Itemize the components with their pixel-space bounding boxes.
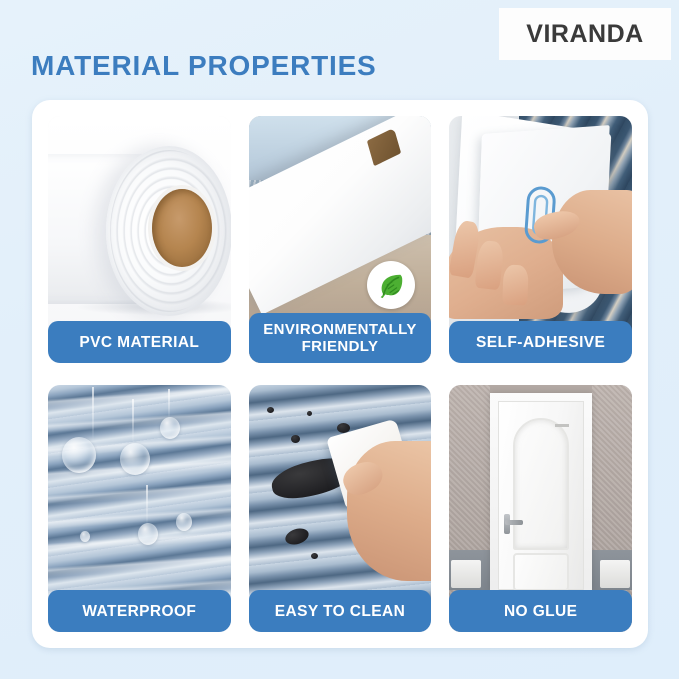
feature-label-easy-to-clean: EASY TO CLEAN [249,590,432,632]
leaf-icon-badge [367,261,415,309]
feature-label-self-adhesive: SELF-ADHESIVE [449,321,632,363]
feature-cell-environmentally-friendly[interactable]: ENVIRONMENTALLY FRIENDLY [249,116,432,363]
feature-label-no-glue: NO GLUE [449,590,632,632]
feature-label-pvc-material: PVC MATERIAL [48,321,231,363]
feature-label-line1: ENVIRONMENTALLY [263,321,417,338]
infographic-page: VIRANDA MATERIAL PROPERTIES PVC MATERIAL [0,0,679,679]
feature-cell-waterproof[interactable]: WATERPROOF [48,385,231,632]
feature-grid: PVC MATERIAL [48,116,632,632]
feature-cell-pvc-material[interactable]: PVC MATERIAL [48,116,231,363]
feature-label-line: ENVIRONMENTALLY FRIENDLY [263,321,417,355]
feature-cell-self-adhesive[interactable]: SELF-ADHESIVE [449,116,632,363]
feature-label-waterproof: WATERPROOF [48,590,231,632]
feature-cell-no-glue[interactable]: NO GLUE [449,385,632,632]
brand-name: VIRANDA [526,20,643,49]
feature-grid-card: PVC MATERIAL [32,100,648,648]
brand-logo-box: VIRANDA [499,8,671,60]
feature-label-line2: FRIENDLY [302,338,379,355]
feature-label-environmentally-friendly: ENVIRONMENTALLY FRIENDLY [249,313,432,363]
page-title: MATERIAL PROPERTIES [31,50,377,82]
leaf-icon [376,270,406,300]
feature-cell-easy-to-clean[interactable]: EASY TO CLEAN [249,385,432,632]
